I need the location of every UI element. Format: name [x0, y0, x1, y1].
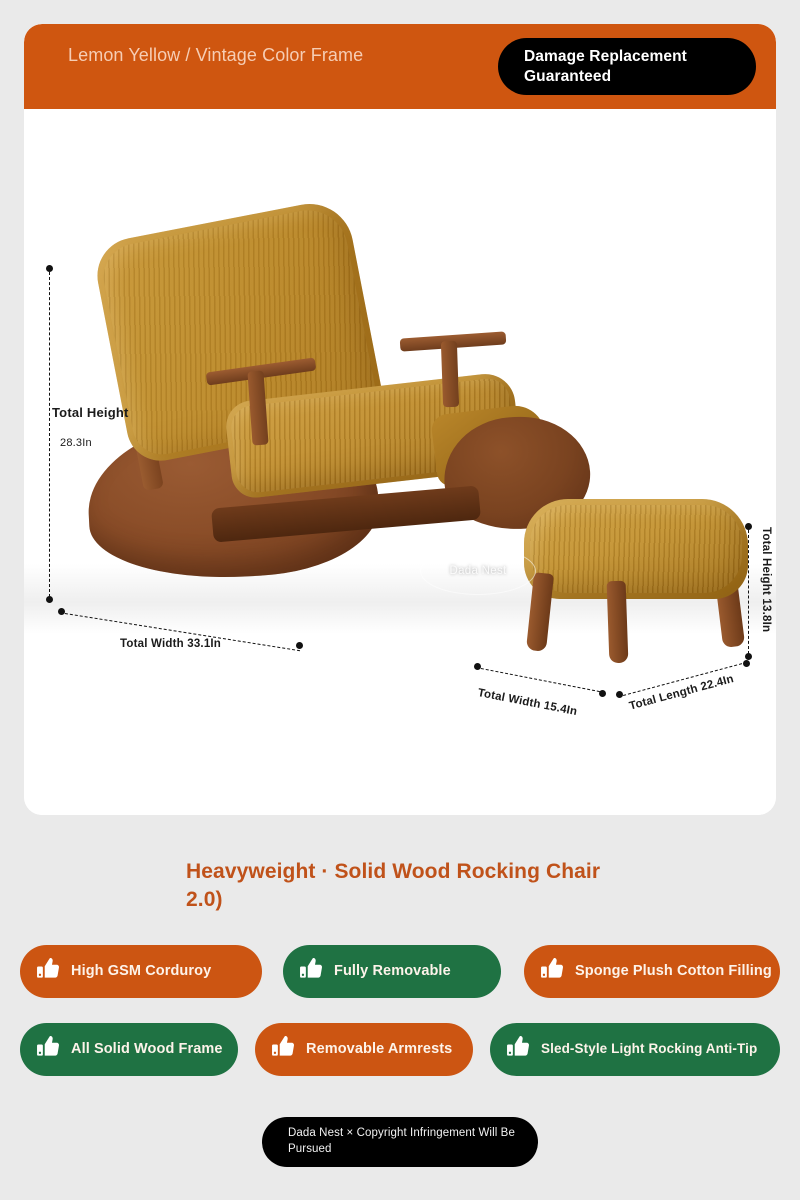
watermark-label: Dada Nest: [449, 565, 506, 577]
copyright-notice-label: Dada Nest × Copyright Infringement Will …: [262, 1126, 538, 1157]
thumbs-up-icon: [34, 1033, 62, 1066]
dim-dot-chair-width-end: [296, 642, 303, 649]
variant-title: Lemon Yellow / Vintage Color Frame: [68, 44, 398, 68]
feature-badge-label: Sled-Style Light Rocking Anti-Tip: [541, 1041, 757, 1057]
dim-line-ottoman-height: [748, 530, 749, 654]
feature-badge-high-gsm-corduroy[interactable]: High GSM Corduroy: [20, 945, 262, 998]
product-card: Lemon Yellow / Vintage Color Frame Damag…: [24, 24, 776, 815]
feature-badge-label: Sponge Plush Cotton Filling: [575, 963, 772, 980]
feature-badge-all-solid-wood-frame[interactable]: All Solid Wood Frame: [20, 1023, 238, 1076]
feature-badge-label: Removable Armrests: [306, 1041, 452, 1058]
dim-dot-chair-height-bottom: [46, 596, 53, 603]
feature-badge-label: All Solid Wood Frame: [71, 1041, 223, 1058]
thumbs-up-icon: [34, 955, 62, 988]
dim-dot-ottoman-length-end: [743, 660, 750, 667]
ottoman-cushion: [524, 499, 748, 599]
thumbs-up-icon: [269, 1033, 297, 1066]
feature-badge-fully-removable[interactable]: Fully Removable: [283, 945, 501, 998]
dim-line-chair-height: [49, 272, 50, 597]
thumbs-up-icon: [504, 1033, 532, 1066]
page-title: Heavyweight · Solid Wood Rocking Chair 2…: [186, 858, 606, 915]
product-detail-page: Lemon Yellow / Vintage Color Frame Damag…: [0, 0, 800, 1200]
damage-replacement-badge[interactable]: Damage Replacement Guaranteed: [498, 38, 756, 95]
feature-badge-sponge-plush-cotton-filling[interactable]: Sponge Plush Cotton Filling: [524, 945, 780, 998]
dim-label-chair-width: Total Width 33.1In: [120, 638, 221, 650]
watermark: Dada Nest: [420, 547, 536, 595]
dim-dot-chair-height-top: [46, 265, 53, 272]
feature-badge-label: High GSM Corduroy: [71, 963, 211, 980]
card-header: Lemon Yellow / Vintage Color Frame Damag…: [24, 24, 776, 109]
thumbs-up-icon: [297, 955, 325, 988]
feature-badge-sled-style-light-rocking-anti-tip[interactable]: Sled-Style Light Rocking Anti-Tip: [490, 1023, 780, 1076]
chair-armrest-back-stem: [441, 341, 459, 408]
feature-badge-label: Fully Removable: [334, 963, 451, 980]
dim-label-ottoman-width: Total Width 15.4In: [477, 687, 578, 718]
dim-line-ottoman-width: [481, 668, 605, 693]
dim-label-ottoman-height: Total Height 13.8In: [760, 527, 772, 632]
ottoman-leg-middle: [607, 581, 629, 664]
damage-replacement-label: Damage Replacement Guaranteed: [498, 47, 756, 87]
dim-value-chair-height: 28.3In: [60, 437, 92, 449]
dim-dot-ottoman-height-top: [745, 523, 752, 530]
ottoman-illustration: [516, 499, 756, 669]
product-photo[interactable]: Dada Nest Total Height 28.3In Total Widt…: [24, 109, 776, 815]
feature-badge-removable-armrests[interactable]: Removable Armrests: [255, 1023, 473, 1076]
dim-label-chair-height: Total Height: [52, 405, 129, 420]
dim-dot-ottoman-height-bottom: [745, 653, 752, 660]
copyright-notice-badge: Dada Nest × Copyright Infringement Will …: [262, 1117, 538, 1167]
thumbs-up-icon: [538, 955, 566, 988]
dim-dot-ottoman-width-end: [599, 690, 606, 697]
